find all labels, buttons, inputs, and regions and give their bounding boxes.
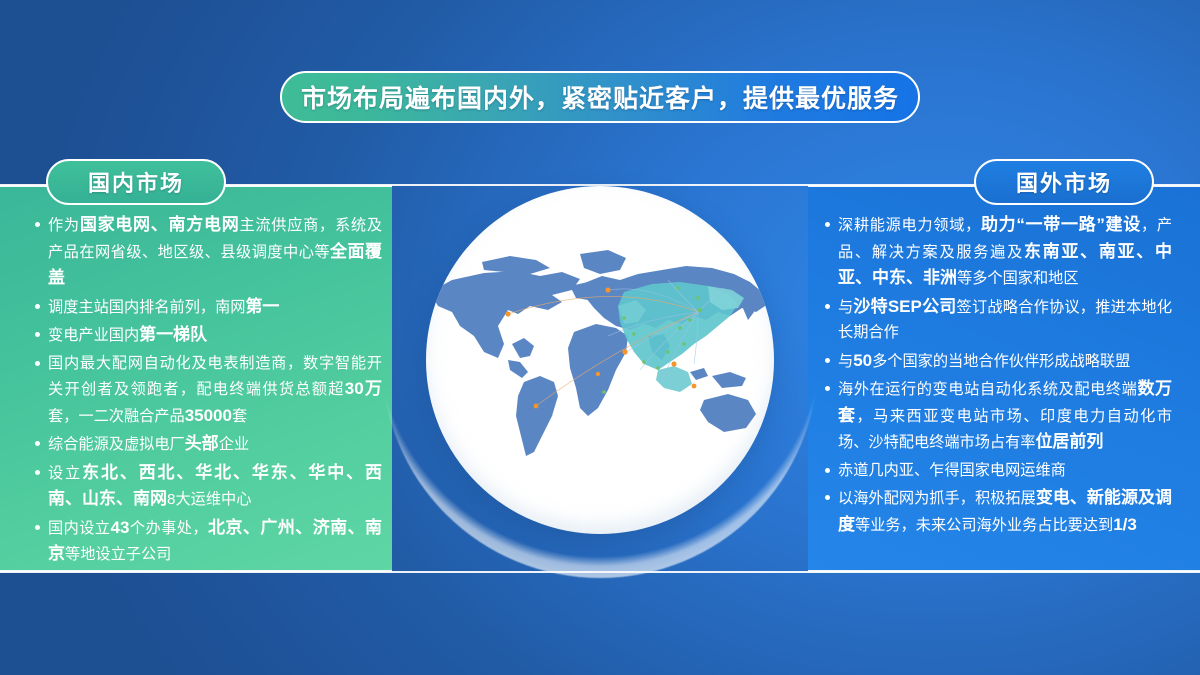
emphasis-text: 头部 bbox=[185, 434, 219, 453]
map-connection-arcs bbox=[508, 280, 724, 406]
body-text: 调度主站国内排名前列，南网 bbox=[48, 299, 245, 316]
body-text: 海外在运行的变电站自动化系统及配电终端 bbox=[838, 381, 1137, 398]
body-text: ，马来西亚变电站市场、印度电力自动化市场、沙特配电终端市场占有率 bbox=[838, 408, 1172, 452]
body-text: 变电产业国内 bbox=[48, 327, 139, 344]
emphasis-text: 50 bbox=[853, 351, 872, 370]
body-text: 等业务，未来公司海外业务占比要达到 bbox=[855, 517, 1113, 534]
list-item: 以海外配网为抓手，积极拓展变电、新能源及调度等业务，未来公司海外业务占比要达到1… bbox=[824, 485, 1172, 538]
list-item: 调度主站国内排名前列，南网第一 bbox=[34, 294, 382, 321]
body-text: 国内最大配网自动化及电表制造商，数字智能开关开创者及领跑者，配电终端供货总额超 bbox=[48, 355, 382, 399]
body-text: 设立 bbox=[48, 465, 82, 482]
list-item: 变电产业国内第一梯队 bbox=[34, 322, 382, 349]
body-text: 综合能源及虚拟电厂 bbox=[48, 436, 185, 453]
slide-root: 市场布局遍布国内外，紧密贴近客户，提供最优服务 bbox=[0, 0, 1200, 675]
map-landmasses bbox=[430, 250, 774, 456]
domestic-market-title: 国内市场 bbox=[88, 166, 184, 198]
domestic-market-list: 作为国家电网、南方电网主流供应商，系统及产品在网省级、地区级、县级调度中心等全面… bbox=[34, 212, 382, 570]
list-item: 赤道几内亚、乍得国家电网运维商 bbox=[824, 458, 1172, 484]
emphasis-text: 第一 bbox=[245, 297, 279, 316]
globe-outer-ring bbox=[382, 142, 818, 578]
list-item: 作为国家电网、南方电网主流供应商，系统及产品在网省级、地区级、县级调度中心等全面… bbox=[34, 212, 382, 292]
map-markers-orange bbox=[505, 287, 696, 408]
overseas-market-title: 国外市场 bbox=[1016, 166, 1112, 198]
emphasis-text: 位居前列 bbox=[1035, 432, 1103, 451]
body-text: 企业 bbox=[219, 436, 249, 453]
body-text: 套，一二次融合产品 bbox=[48, 408, 185, 425]
body-text: 多个国家的当地合作伙伴形成战略联盟 bbox=[872, 353, 1130, 370]
list-item: 深耕能源电力领域，助力“一带一路”建设，产品、解决方案及服务遍及东南亚、南亚、中… bbox=[824, 212, 1172, 292]
list-item: 与沙特SEP公司签订战略合作协议，推进本地化长期合作 bbox=[824, 294, 1172, 346]
map-markers-green bbox=[602, 286, 702, 394]
domestic-market-header-pill: 国内市场 bbox=[46, 159, 226, 205]
page-title: 市场布局遍布国内外，紧密贴近客户，提供最优服务 bbox=[301, 79, 899, 115]
body-text: 个办事处， bbox=[129, 520, 208, 537]
body-text: 与 bbox=[838, 353, 853, 370]
body-text: 与 bbox=[838, 299, 853, 316]
list-item: 与50多个国家的当地合作伙伴形成战略联盟 bbox=[824, 348, 1172, 375]
body-text: 等多个国家和地区 bbox=[957, 270, 1079, 287]
emphasis-text: 43 bbox=[111, 518, 130, 537]
emphasis-text: 35000 bbox=[185, 406, 232, 425]
globe-inner-disc bbox=[426, 186, 774, 534]
body-text: 等地设立子公司 bbox=[65, 546, 171, 563]
list-item: 国内最大配网自动化及电表制造商，数字智能开关开创者及领跑者，配电终端供货总额超3… bbox=[34, 351, 382, 430]
list-item: 综合能源及虚拟电厂头部企业 bbox=[34, 431, 382, 458]
body-text: 国内设立 bbox=[48, 520, 111, 537]
map-china-region bbox=[618, 282, 744, 392]
body-text: 深耕能源电力领域， bbox=[838, 217, 981, 234]
world-map-svg bbox=[426, 240, 774, 480]
list-item: 设立东北、西北、华北、华东、华中、西南、山东、南网8大运维中心 bbox=[34, 460, 382, 513]
emphasis-text: 助力“一带一路”建设 bbox=[981, 215, 1141, 234]
panel-bottom-divider bbox=[0, 571, 1200, 573]
slide-title-pill: 市场布局遍布国内外，紧密贴近客户，提供最优服务 bbox=[280, 71, 920, 123]
body-text: 作为 bbox=[48, 217, 80, 234]
overseas-market-header-pill: 国外市场 bbox=[974, 159, 1154, 205]
body-text: 8大运维中心 bbox=[167, 491, 251, 508]
body-text: 套 bbox=[232, 408, 247, 425]
emphasis-text: 沙特SEP公司 bbox=[853, 297, 956, 316]
emphasis-text: 国家电网、南方电网 bbox=[80, 215, 240, 234]
list-item: 国内设立43个办事处，北京、广州、济南、南京等地设立子公司 bbox=[34, 515, 382, 568]
body-text: 以海外配网为抓手，积极拓展 bbox=[838, 490, 1036, 507]
emphasis-text: 30万 bbox=[345, 379, 382, 398]
body-text: 赤道几内亚、乍得国家电网运维商 bbox=[838, 462, 1066, 479]
emphasis-text: 第一梯队 bbox=[139, 325, 207, 344]
world-map-globe bbox=[382, 142, 818, 578]
list-item: 海外在运行的变电站自动化系统及配电终端数万套，马来西亚变电站市场、印度电力自动化… bbox=[824, 376, 1172, 456]
emphasis-text: 1/3 bbox=[1113, 515, 1137, 534]
overseas-market-list: 深耕能源电力领域，助力“一带一路”建设，产品、解决方案及服务遍及东南亚、南亚、中… bbox=[824, 212, 1172, 540]
